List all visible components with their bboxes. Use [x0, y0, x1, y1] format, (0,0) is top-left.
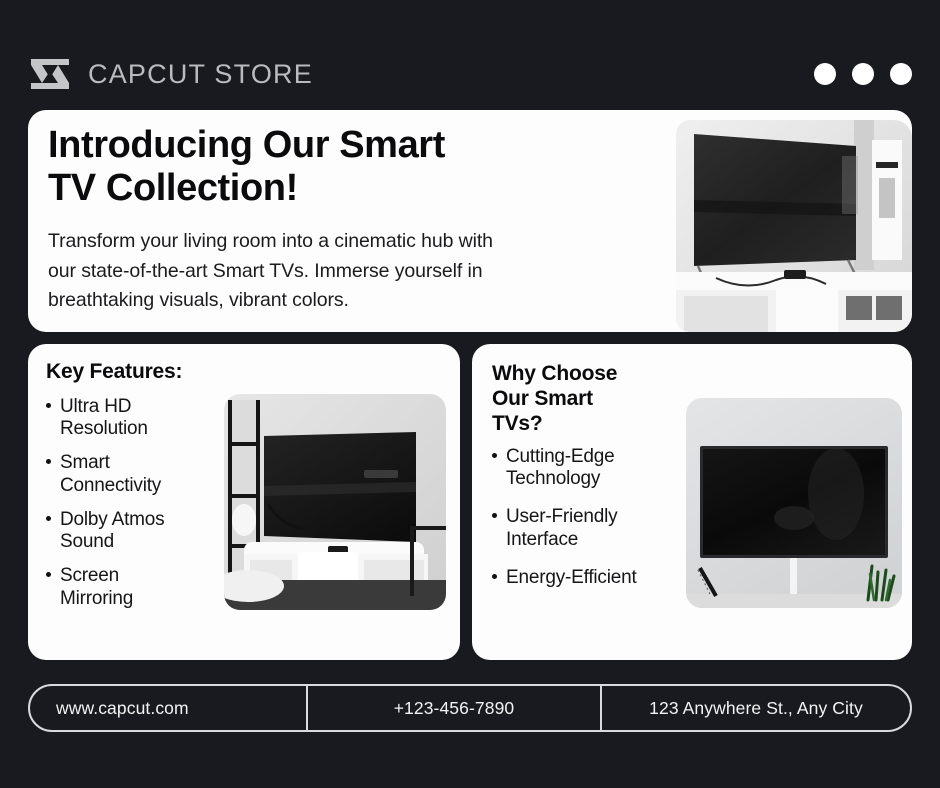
menu-dots[interactable] [814, 63, 912, 85]
footer-phone[interactable]: +123-456-7890 [306, 686, 602, 730]
page-title: Introducing Our Smart TV Collection! [48, 124, 668, 210]
brand[interactable]: CAPCUT STORE [28, 56, 313, 92]
features-heading: Key Features: [46, 360, 182, 384]
features-tv-photo [224, 394, 446, 610]
hero-card: Introducing Our Smart TV Collection! Tra… [28, 110, 912, 332]
hero-description: Transform your living room into a cinema… [48, 227, 668, 316]
hero-text-block: Introducing Our Smart TV Collection! Tra… [48, 124, 668, 316]
list-item: Energy-Efficient [488, 567, 688, 589]
capcut-logo-icon [28, 56, 72, 92]
key-features-card: Key Features: Ultra HD Resolution Smart … [28, 344, 460, 660]
list-item: User-Friendly Interface [488, 506, 688, 550]
why-choose-card: Why Choose Our Smart TVs? Cutting-Edge T… [472, 344, 912, 660]
dot-2-icon[interactable] [852, 63, 874, 85]
footer-address: 123 Anywhere St., Any City [602, 686, 910, 730]
header-bar: CAPCUT STORE [0, 46, 940, 102]
list-item: Dolby Atmos Sound [42, 509, 242, 553]
list-item: Smart Connectivity [42, 452, 242, 496]
features-list: Ultra HD Resolution Smart Connectivity D… [42, 396, 242, 610]
dot-1-icon[interactable] [814, 63, 836, 85]
footer-bar: www.capcut.com +123-456-7890 123 Anywher… [28, 684, 912, 732]
why-heading: Why Choose Our Smart TVs? [492, 362, 682, 436]
hero-tv-photo [676, 120, 912, 332]
why-list: Cutting-Edge Technology User-Friendly In… [488, 446, 688, 589]
list-item: Screen Mirroring [42, 565, 242, 609]
brand-name: CAPCUT STORE [88, 59, 313, 90]
list-item: Cutting-Edge Technology [488, 446, 688, 490]
poster-root: CAPCUT STORE Introducing Our Smart TV Co… [0, 0, 940, 788]
list-item: Ultra HD Resolution [42, 396, 242, 440]
footer-website[interactable]: www.capcut.com [30, 686, 306, 730]
why-tv-photo [686, 398, 902, 608]
dot-3-icon[interactable] [890, 63, 912, 85]
